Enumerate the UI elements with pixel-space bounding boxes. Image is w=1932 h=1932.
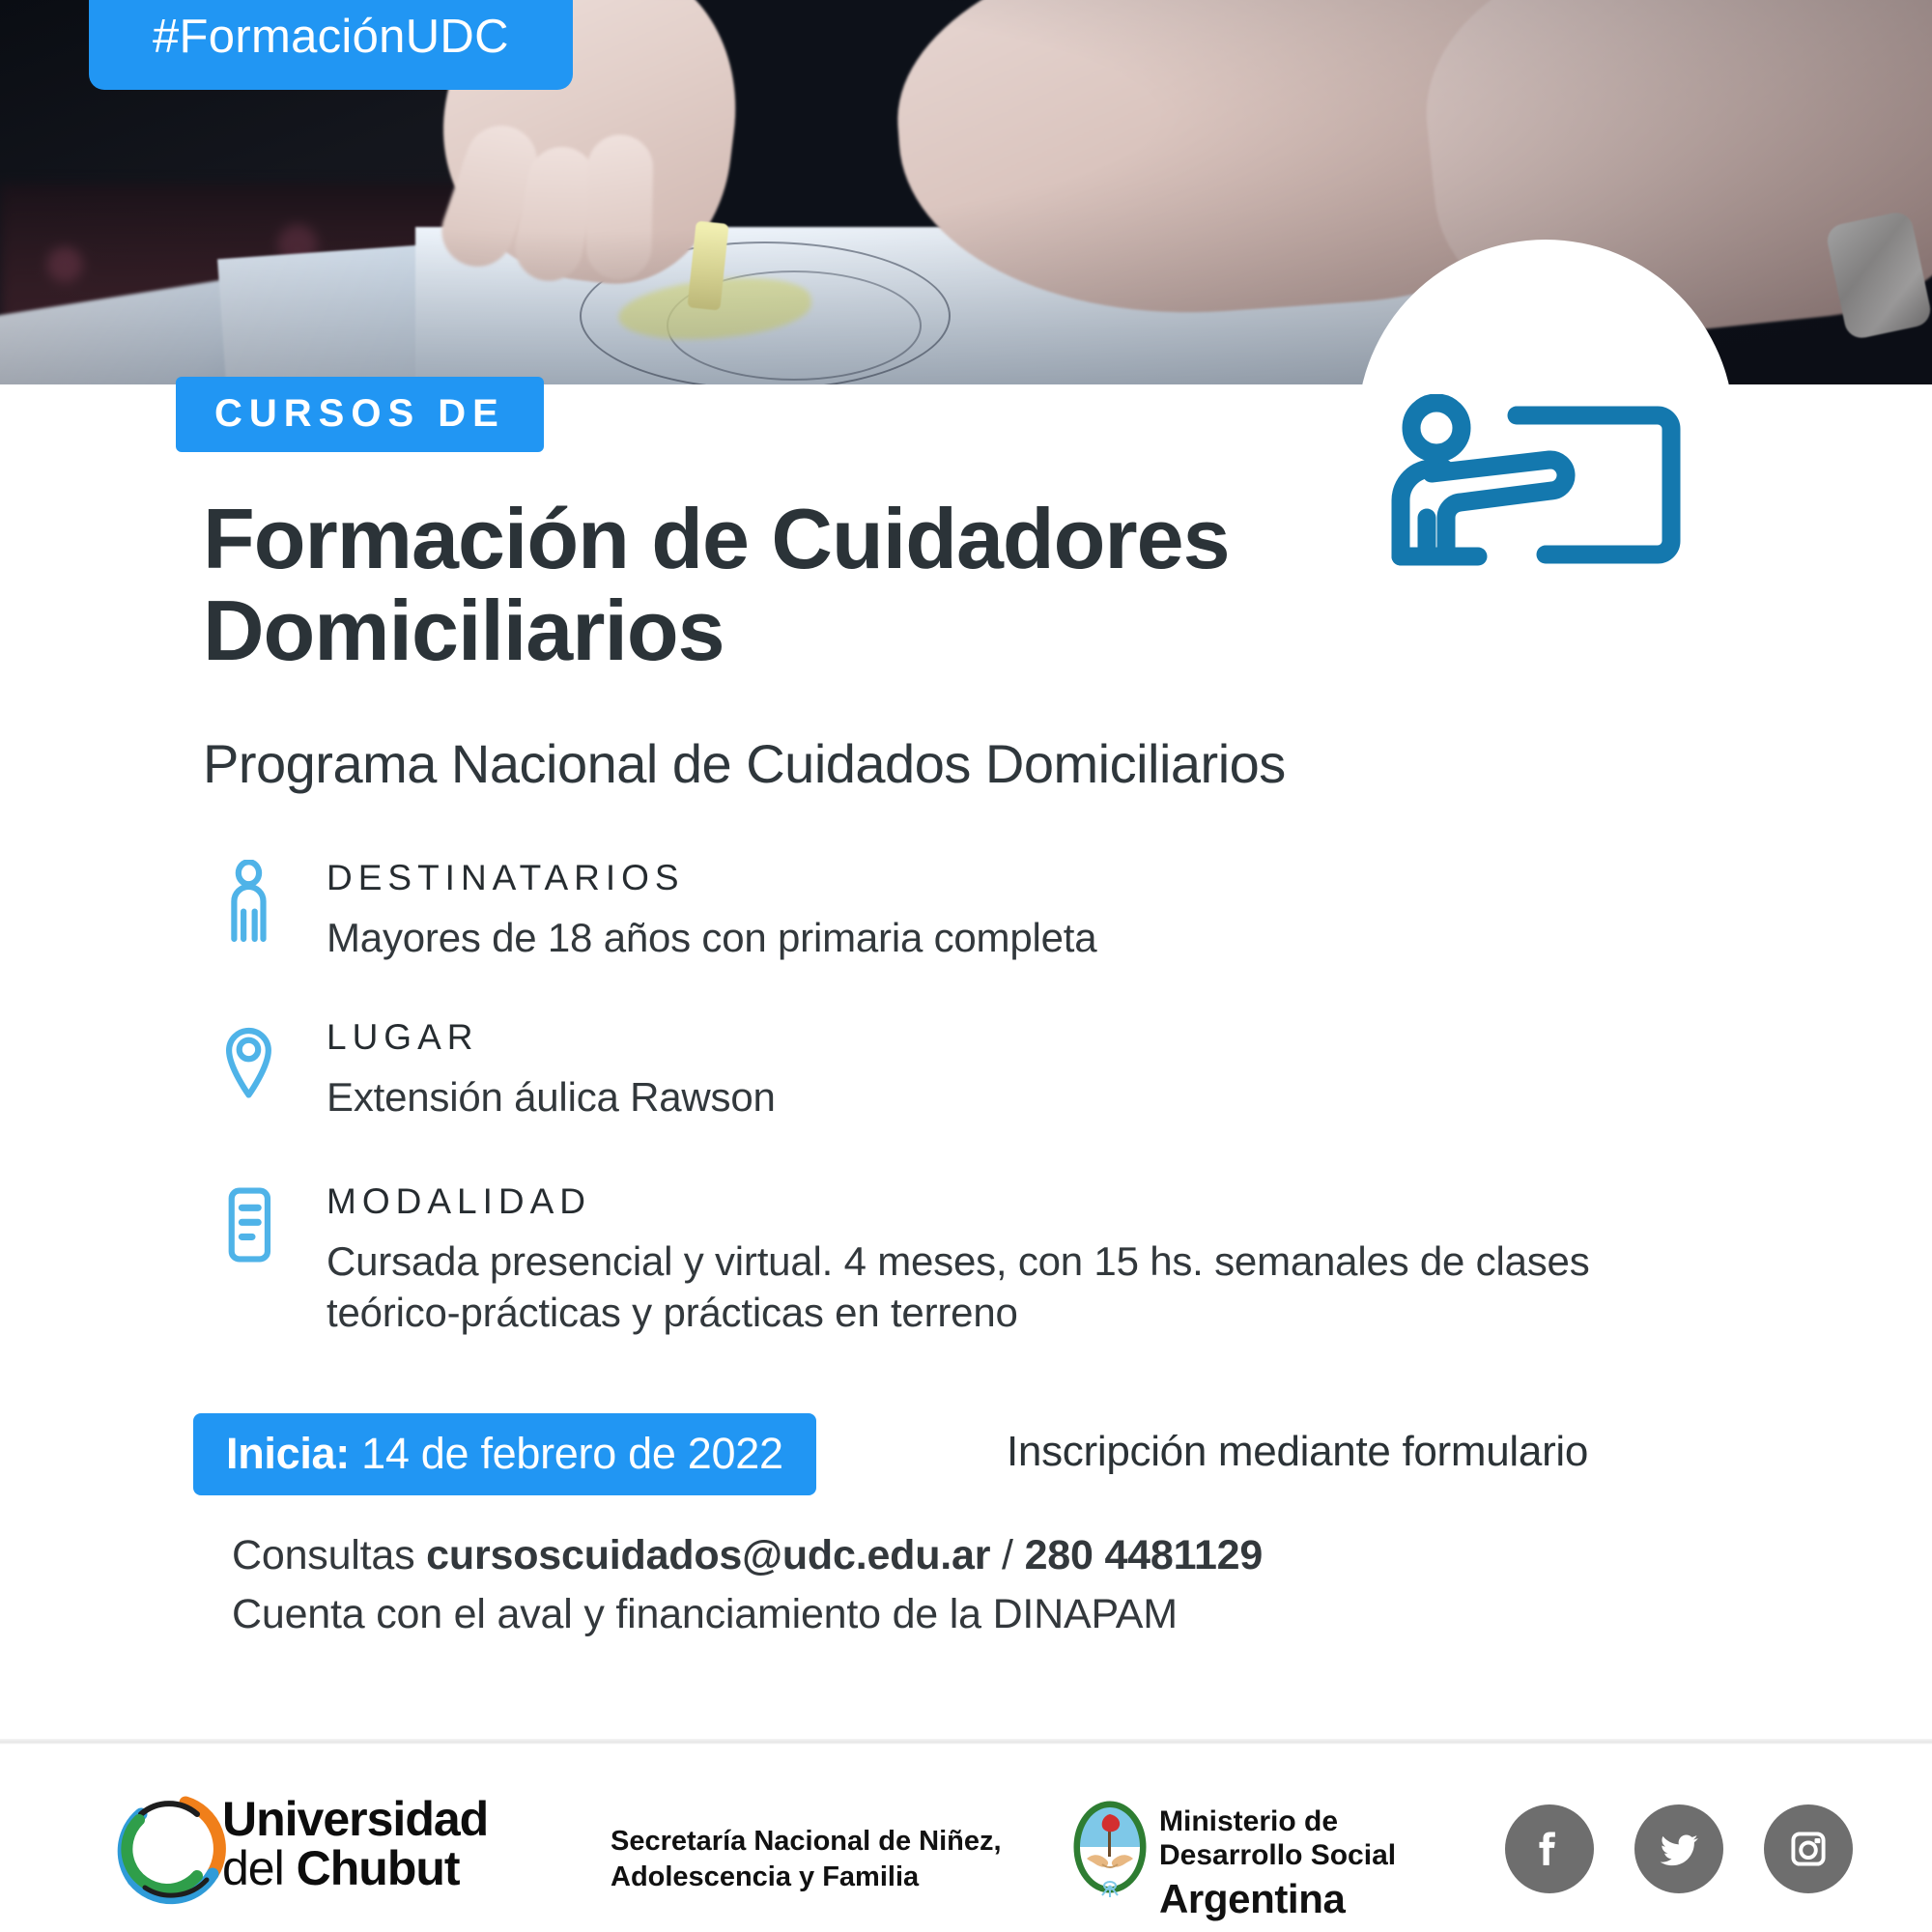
info-body-modalidad: Cursada presencial y virtual. 4 meses, c… xyxy=(327,1236,1594,1338)
modalidad-line-2: teórico-prácticas y prácticas en terreno xyxy=(327,1288,1594,1339)
page-subtitle: Programa Nacional de Cuidados Domiciliar… xyxy=(203,734,1652,795)
secretaria-line-2: Adolescencia y Familia xyxy=(611,1860,1002,1895)
info-heading-destinatarios: DESTINATARIOS xyxy=(327,860,1594,895)
social-links xyxy=(1505,1804,1853,1893)
poster-root: #FormaciónUDC CURSOS DE Formación de Cui… xyxy=(0,0,1932,1932)
start-date-badge: Inicia: 14 de febrero de 2022 xyxy=(193,1413,816,1495)
document-icon xyxy=(222,1183,290,1261)
title-line-2: Domiciliarios xyxy=(203,584,1343,676)
modalidad-line-1: Cursada presencial y virtual. 4 meses, c… xyxy=(327,1236,1594,1288)
facebook-icon[interactable] xyxy=(1505,1804,1594,1893)
argentina-coat-of-arms xyxy=(1067,1799,1152,1907)
ministry-wordmark: Ministerio de Desarrollo Social Argentin… xyxy=(1159,1804,1396,1922)
title-line-1: Formación de Cuidadores xyxy=(203,493,1343,584)
start-date-prefix: Inicia: xyxy=(226,1429,350,1478)
info-body-lugar: Extensión áulica Rawson xyxy=(327,1072,1594,1123)
ministry-line-3: Argentina xyxy=(1159,1875,1396,1923)
instagram-icon[interactable] xyxy=(1764,1804,1853,1893)
udc-wordmark: Universidad del Chubut xyxy=(222,1795,488,1893)
info-heading-lugar: LUGAR xyxy=(327,1019,1594,1055)
teacher-board-icon xyxy=(1383,394,1692,578)
page-title: Formación de Cuidadores Domiciliarios xyxy=(203,493,1343,676)
info-body-destinatarios: Mayores de 18 años con primaria completa xyxy=(327,913,1594,964)
contact-email[interactable]: cursoscuidados@udc.edu.ar xyxy=(426,1532,990,1578)
contact-block: Consultas cursoscuidados@udc.edu.ar / 28… xyxy=(232,1526,1777,1644)
person-icon xyxy=(222,860,290,937)
info-item-destinatarios: DESTINATARIOS Mayores de 18 años con pri… xyxy=(222,860,1594,964)
info-heading-modalidad: MODALIDAD xyxy=(327,1183,1594,1219)
ministry-line-1: Ministerio de xyxy=(1159,1804,1396,1838)
info-item-lugar: LUGAR Extensión áulica Rawson xyxy=(222,1019,1594,1123)
location-pin-icon xyxy=(222,1019,290,1096)
udc-line-1: Universidad xyxy=(222,1795,488,1844)
contact-line-1: Consultas cursoscuidados@udc.edu.ar / 28… xyxy=(232,1526,1777,1585)
secretaria-text: Secretaría Nacional de Niñez, Adolescenc… xyxy=(611,1824,1002,1895)
info-item-modalidad: MODALIDAD Cursada presencial y virtual. … xyxy=(222,1183,1594,1338)
udc-line-2-thin: del xyxy=(222,1841,297,1895)
udc-line-2-bold: Chubut xyxy=(297,1841,460,1895)
contact-separator: / xyxy=(990,1532,1024,1578)
inscription-note: Inscripción mediante formulario xyxy=(1007,1428,1588,1476)
cursos-de-badge: CURSOS DE xyxy=(176,377,544,452)
contact-line-2: Cuenta con el aval y financiamiento de l… xyxy=(232,1585,1777,1644)
ministry-line-2: Desarrollo Social xyxy=(1159,1838,1396,1872)
contact-phone[interactable]: 280 4481129 xyxy=(1025,1532,1264,1578)
udc-line-2: del Chubut xyxy=(222,1844,488,1893)
secretaria-line-1: Secretaría Nacional de Niñez, xyxy=(611,1824,1002,1860)
hashtag-badge: #FormaciónUDC xyxy=(89,0,573,90)
twitter-icon[interactable] xyxy=(1634,1804,1723,1893)
contact-prefix: Consultas xyxy=(232,1532,426,1578)
start-date-value: 14 de febrero de 2022 xyxy=(361,1429,783,1478)
